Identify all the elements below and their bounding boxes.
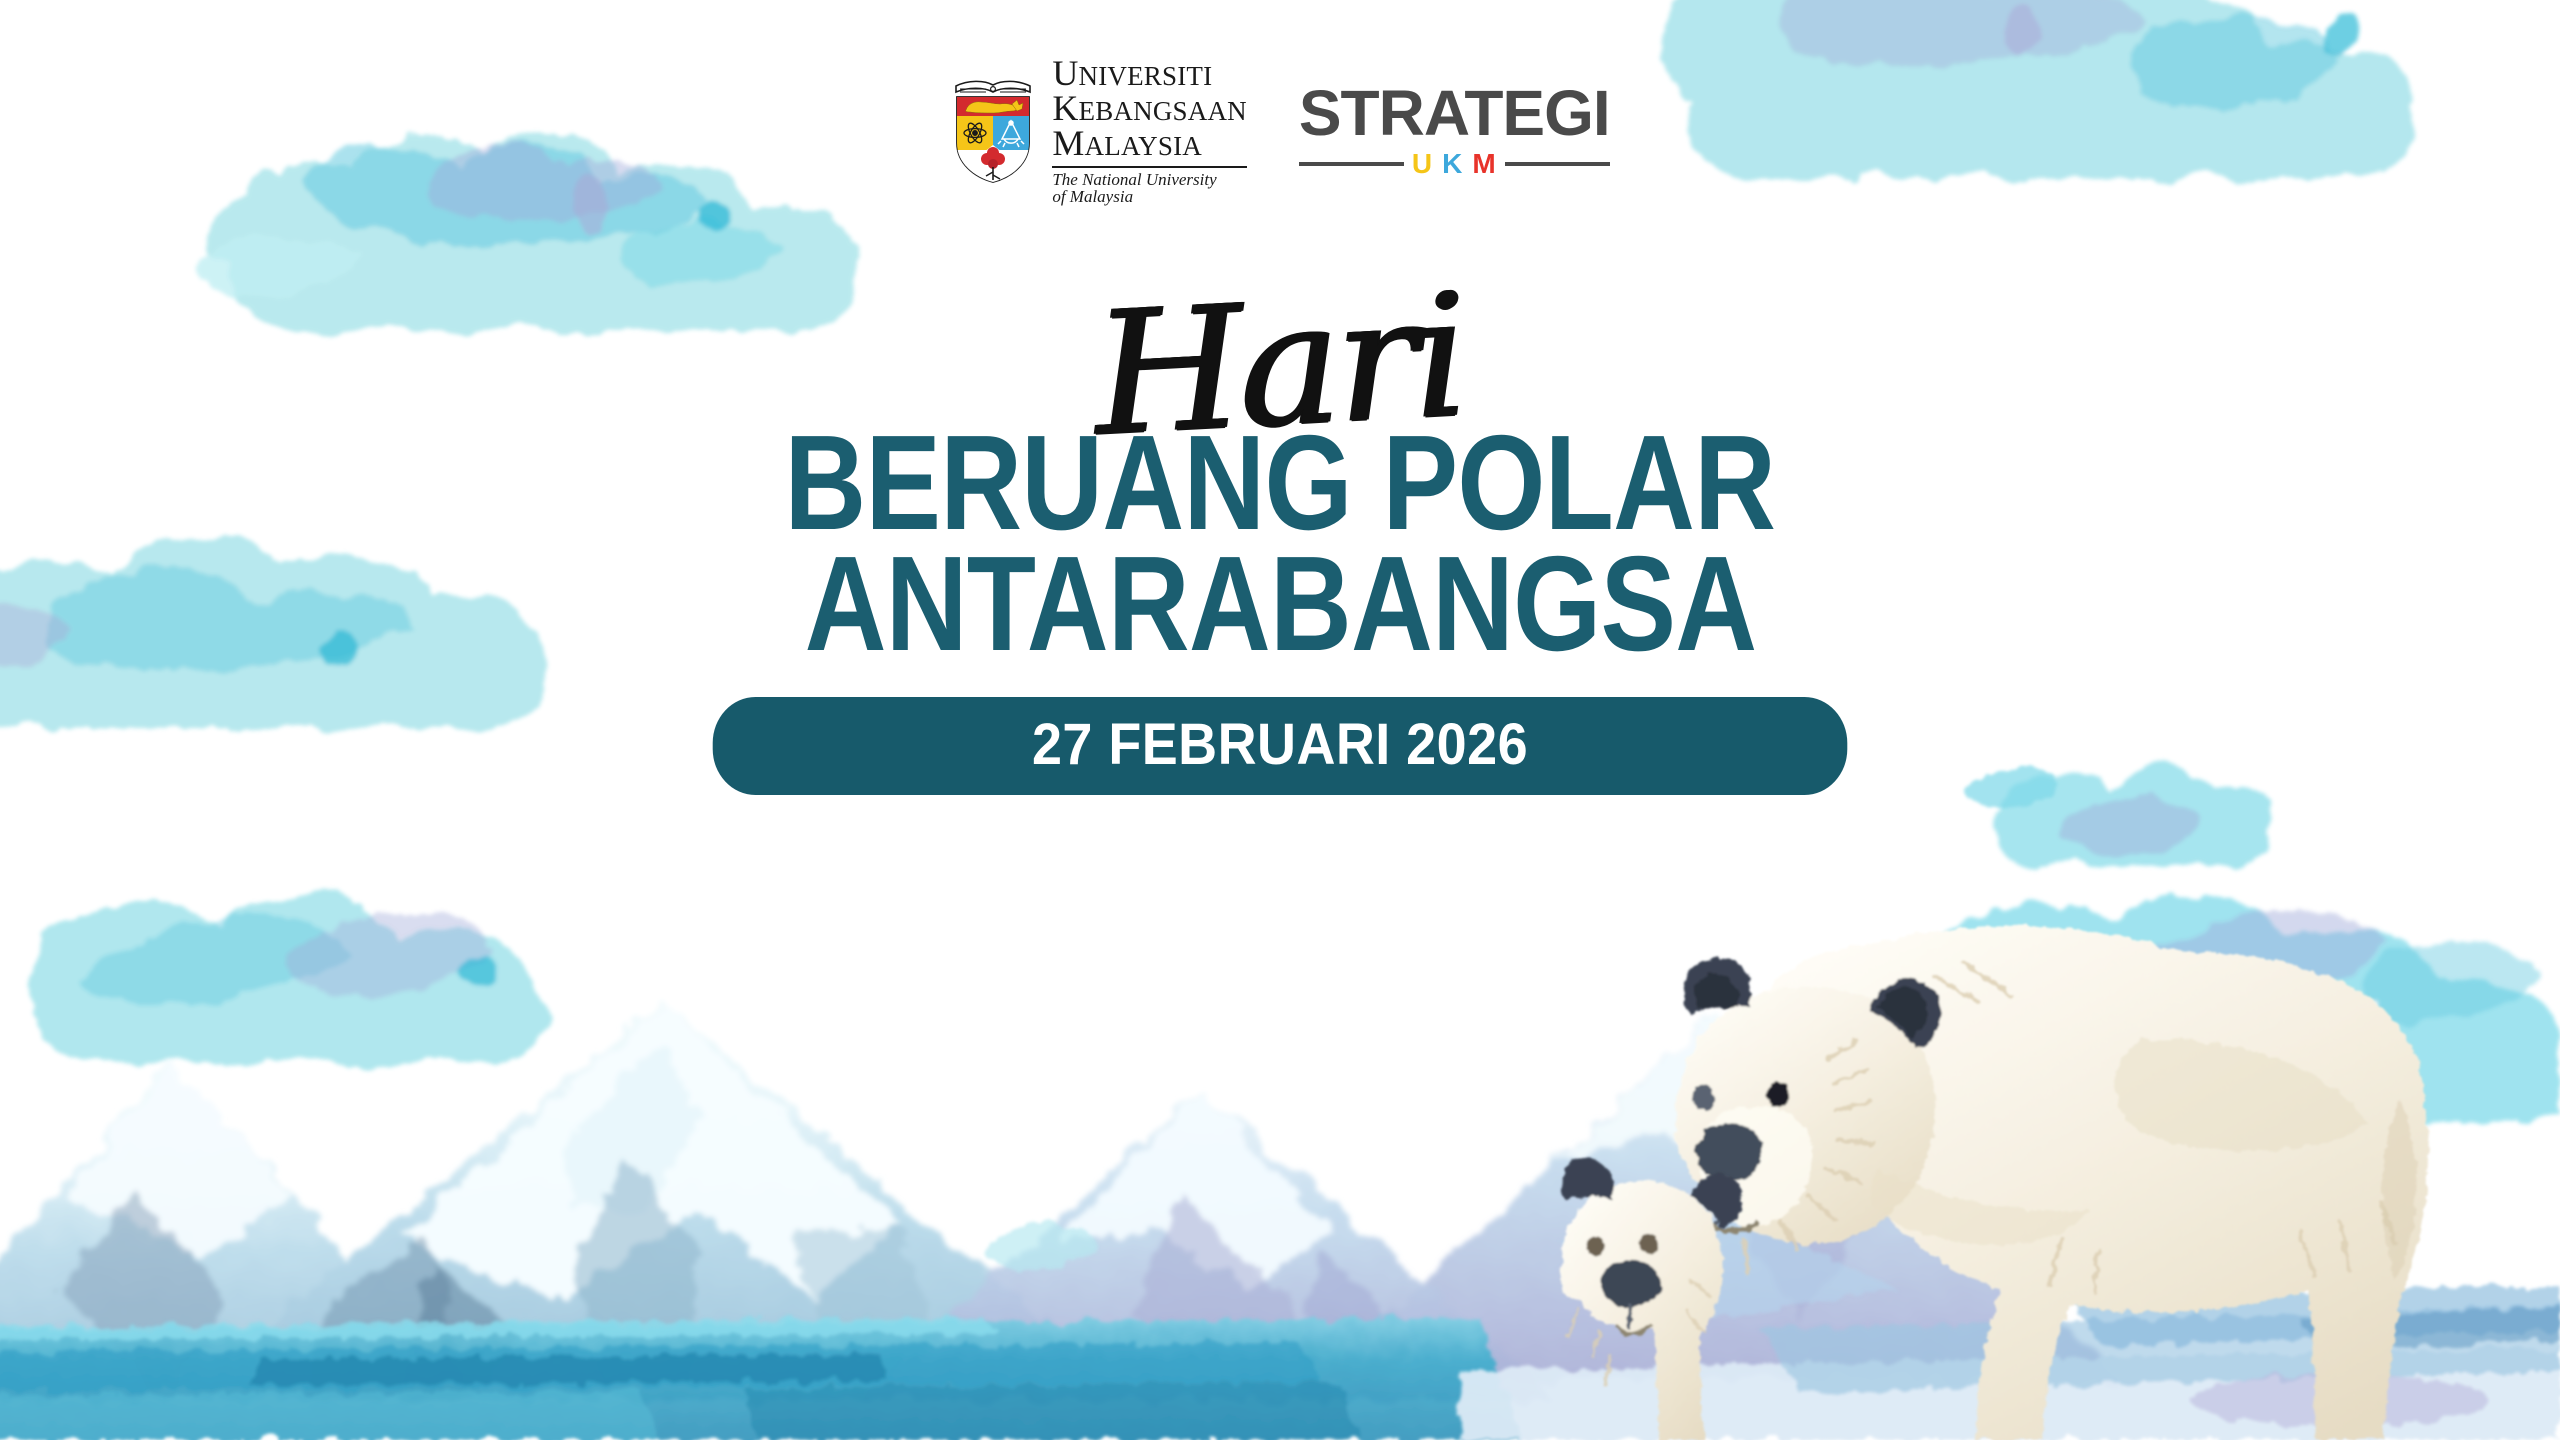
- strategi-letter-m: M: [1472, 150, 1496, 178]
- ukm-line-3: MALAYSIA: [1052, 126, 1247, 161]
- arctic-water: [0, 1318, 1520, 1440]
- strategi-underline-row: U K M: [1299, 150, 1610, 178]
- date-banner[interactable]: 27 FEBRUARI 2026: [713, 697, 1848, 796]
- ukm-line-1: UUniversitiNIVERSITI: [1052, 56, 1247, 91]
- strategi-letter-k: K: [1442, 150, 1463, 178]
- ukm-line-2: KEBANGSAAN: [1052, 91, 1247, 126]
- ukm-tagline-2: of Malaysia: [1052, 188, 1247, 206]
- strategi-logo: STRATEGI U K M: [1299, 81, 1610, 178]
- strategi-wordmark: STRATEGI: [1299, 81, 1610, 145]
- ukm-wordmark: UUniversitiNIVERSITI KEBANGSAAN MALAYSIA…: [1052, 56, 1247, 206]
- strategi-ukm-letters: U K M: [1412, 150, 1497, 178]
- strategi-letter-u: U: [1412, 150, 1433, 178]
- strategi-rule-right: [1505, 162, 1610, 166]
- ukm-tagline-1: The National University: [1052, 171, 1247, 189]
- strategi-rule-left: [1299, 162, 1404, 166]
- ukm-logo: UUniversitiNIVERSITI KEBANGSAAN MALAYSIA…: [950, 56, 1247, 206]
- logo-bar: UUniversitiNIVERSITI KEBANGSAAN MALAYSIA…: [0, 56, 2560, 206]
- poster-canvas: UUniversitiNIVERSITI KEBANGSAAN MALAYSIA…: [0, 0, 2560, 1440]
- ukm-crest-icon: [950, 77, 1036, 185]
- ukm-divider: [1052, 166, 1247, 168]
